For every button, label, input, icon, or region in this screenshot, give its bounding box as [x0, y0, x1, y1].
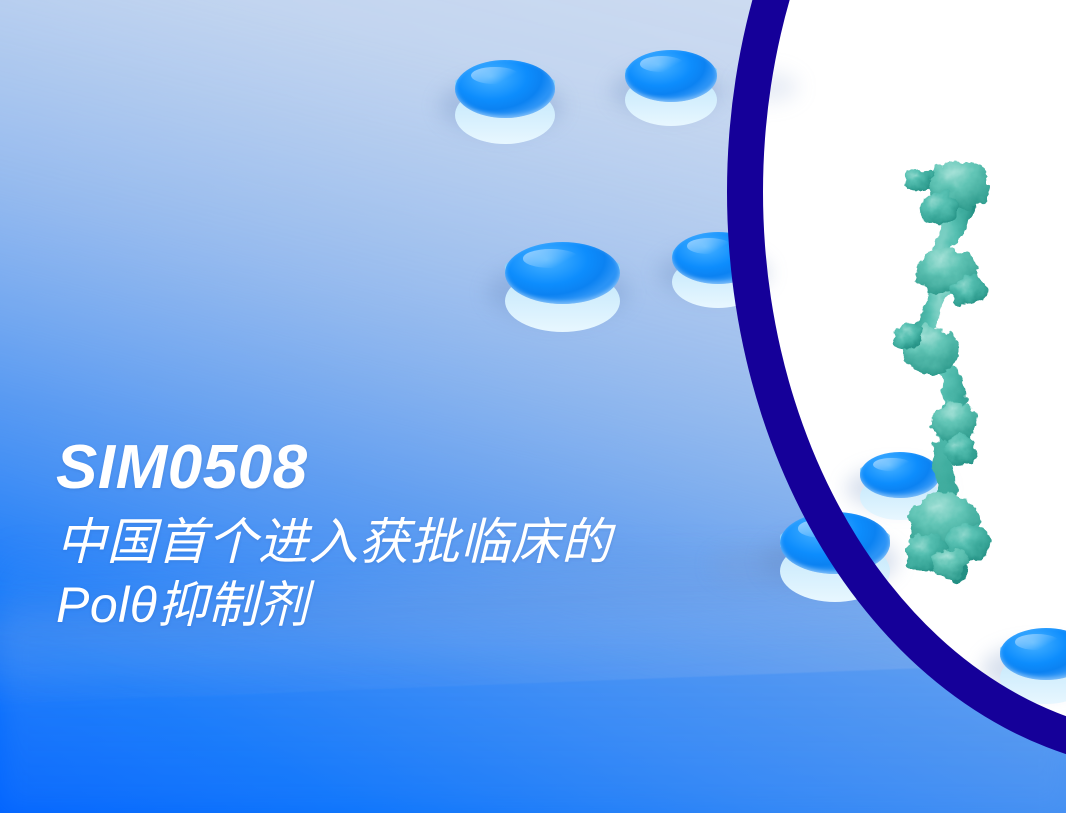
pill-mid-left: [505, 242, 620, 304]
pill-cap: [455, 60, 555, 118]
subtitle-line-1: 中国首个进入获批临床的: [56, 511, 612, 574]
promotional-poster: SIM0508 中国首个进入获批临床的 Polθ抑制剂: [0, 0, 1066, 813]
protein-ribbon-structure: [880, 150, 1050, 590]
page-title: SIM0508: [56, 436, 612, 499]
pill-cap: [505, 242, 620, 304]
subtitle-line-2: Polθ抑制剂: [56, 574, 612, 637]
pill-top-left: [455, 60, 555, 118]
protein-domains: [893, 161, 990, 579]
pill-top-right: [625, 50, 717, 102]
page-subtitle: 中国首个进入获批临床的 Polθ抑制剂: [56, 511, 612, 637]
headline-block: SIM0508 中国首个进入获批临床的 Polθ抑制剂: [56, 436, 612, 637]
pill-cap: [625, 50, 717, 102]
